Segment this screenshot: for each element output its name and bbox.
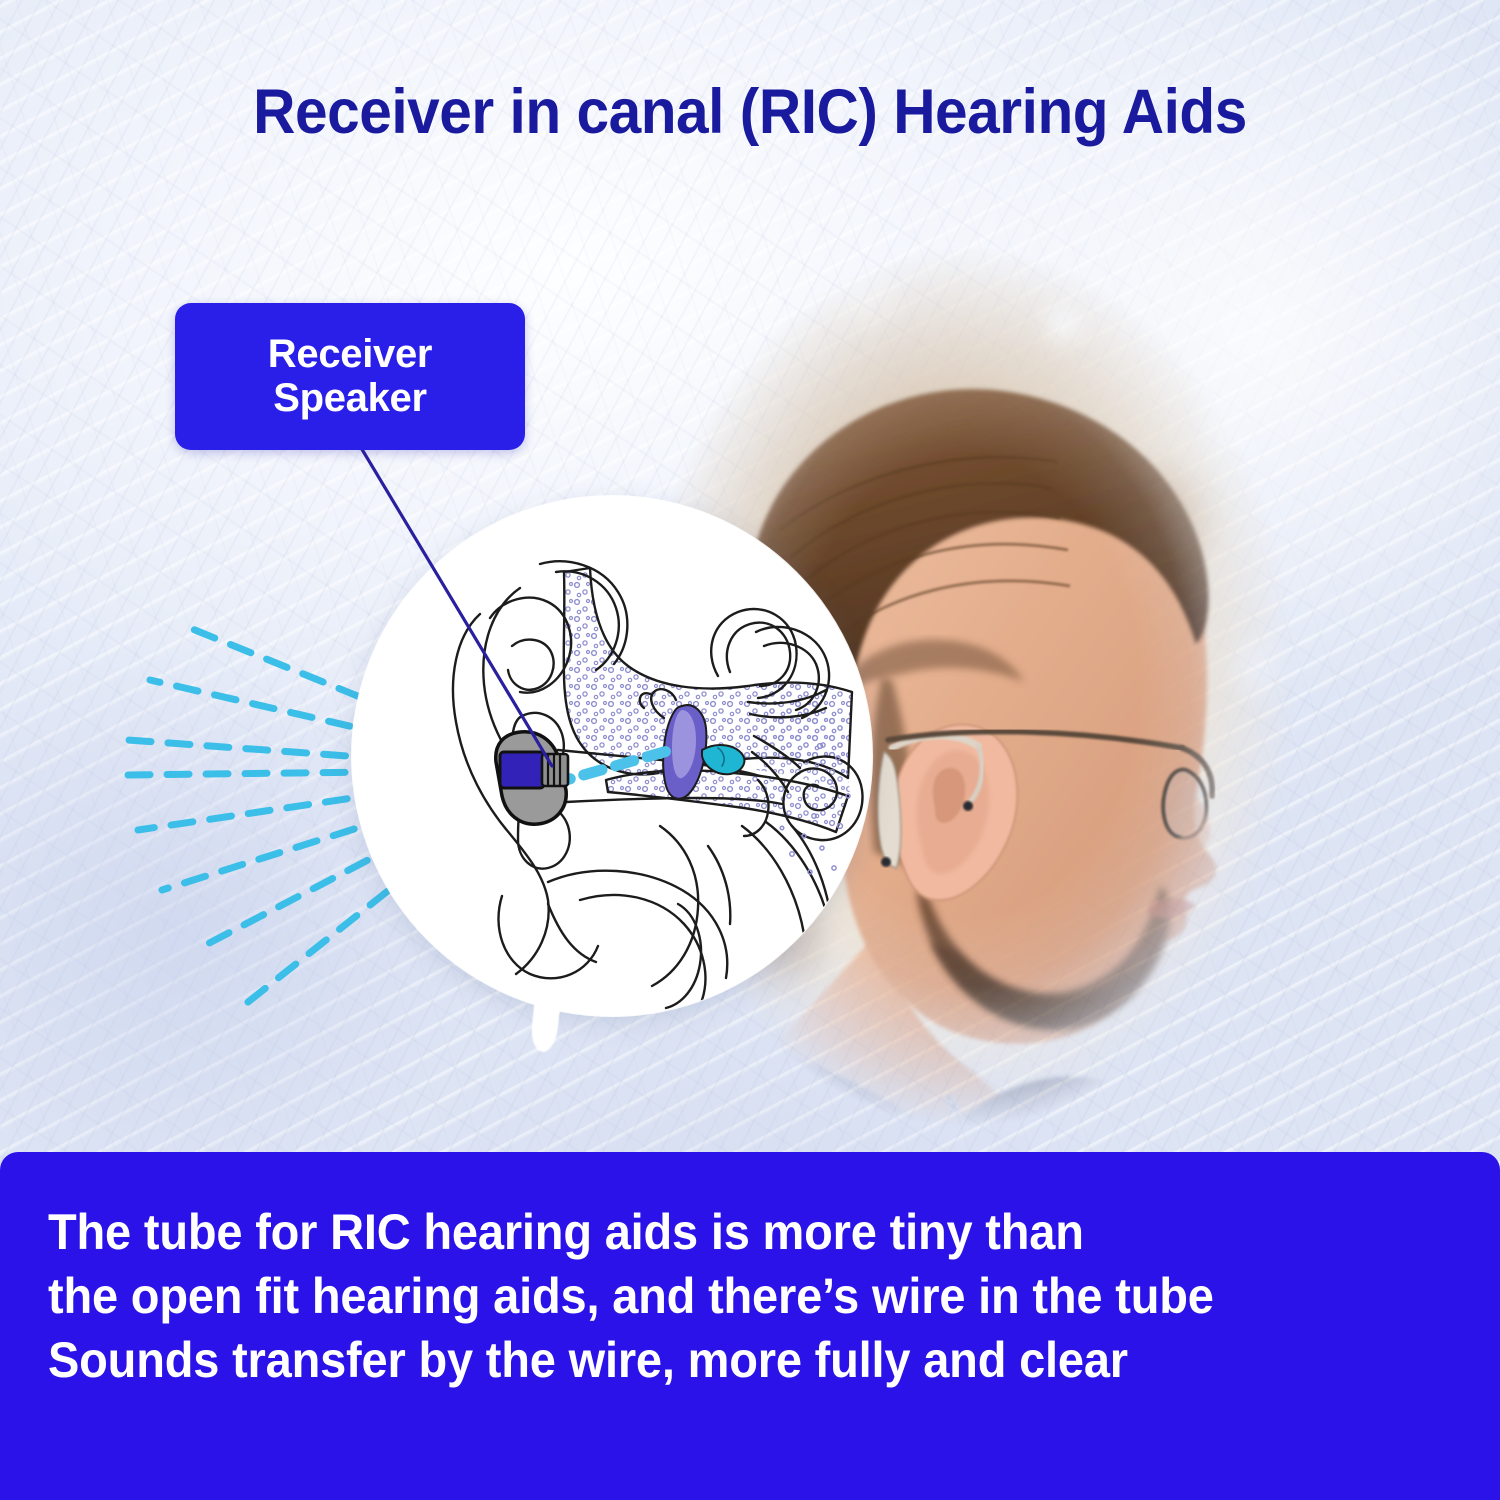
receiver-speaker-callout[interactable]: Receiver Speaker (175, 303, 525, 450)
caption-line-2: the open fit hearing aids, and there’s w… (48, 1264, 1364, 1328)
callout-line-2: Speaker (273, 377, 427, 420)
caption-text-block: The tube for RIC hearing aids is more ti… (48, 1200, 1364, 1392)
bottom-caption-panel: The tube for RIC hearing aids is more ti… (0, 1152, 1500, 1500)
caption-line-1: The tube for RIC hearing aids is more ti… (48, 1200, 1364, 1264)
ear-anatomy-diagram (352, 496, 872, 1016)
infographic-stage: Receiver in canal (RIC) Hearing Aids (0, 0, 1500, 1500)
caption-line-3: Sounds transfer by the wire, more fully … (48, 1328, 1364, 1392)
page-title: Receiver in canal (RIC) Hearing Aids (53, 76, 1448, 148)
receiver-speaker-device (496, 732, 568, 824)
callout-line-1: Receiver (268, 333, 432, 376)
